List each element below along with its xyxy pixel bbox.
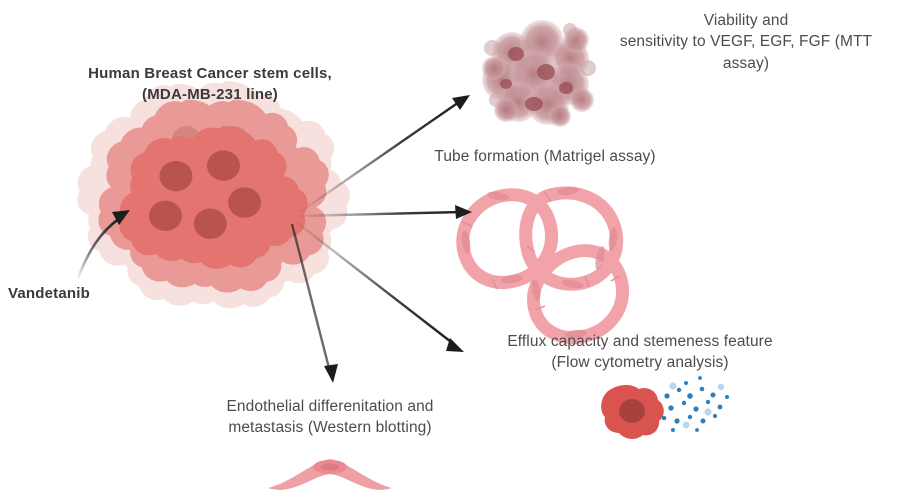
label-endothelial-differentiation: Endothelial differenitation and metastas… [170, 396, 490, 439]
arrow-to-tube-formation [298, 205, 472, 219]
label-efflux-capacity: Efflux capacity and stemeness feature (F… [455, 331, 825, 374]
page-title: Human Breast Cancer stem cells, (MDA-MB-… [60, 64, 360, 105]
figure-canvas: Human Breast Cancer stem cells, (MDA-MB-… [0, 0, 900, 500]
efflux-cell-with-dye-dots-icon [601, 376, 729, 439]
label-tube-formation: Tube formation (Matrigel assay) [400, 146, 690, 167]
matrigel-tube-rings-icon [463, 193, 623, 338]
dye-efflux-dots [662, 376, 729, 432]
matrigel-tube-ring-nuclei [460, 186, 618, 340]
arrow-to-endothelial [292, 224, 338, 383]
vandetanib-curved-arrow [78, 210, 130, 278]
breast-cancer-stem-cell-cluster [77, 81, 350, 308]
arrow-to-efflux [296, 222, 464, 352]
mauve-cell-cluster-icon [482, 20, 596, 127]
label-viability-assay: Viability and sensitivity to VEGF, EGF, … [596, 10, 896, 74]
tube-junction-marks [463, 192, 620, 310]
flattened-endothelial-cell-icon [268, 459, 392, 490]
drug-label-vandetanib: Vandetanib [8, 284, 158, 305]
